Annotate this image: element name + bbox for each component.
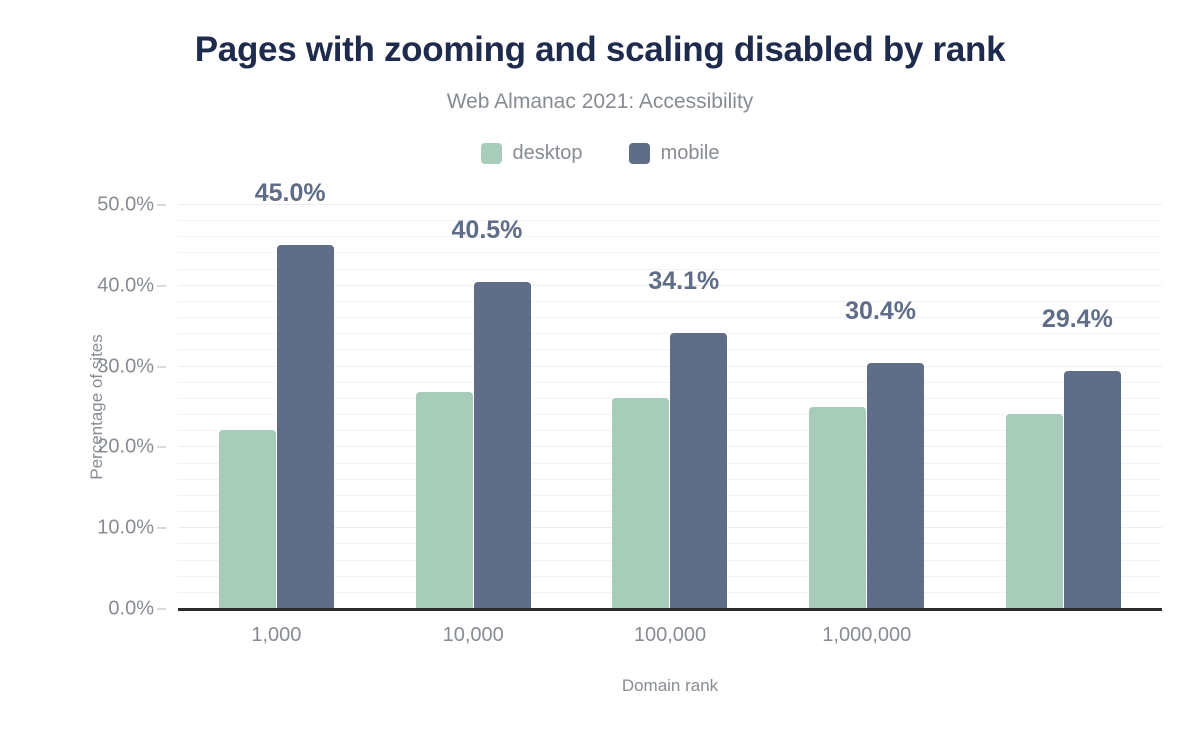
y-axis-ticks: 0.0%10.0%20.0%30.0%40.0%50.0% [0,205,166,609]
bar-desktop[interactable] [416,392,473,609]
bar-desktop[interactable] [809,407,866,609]
y-axis-tick-mark [157,285,166,287]
bar-mobile[interactable] [1064,371,1121,609]
bar-desktop[interactable] [612,398,669,609]
x-axis-title: Domain rank [178,676,1162,696]
x-axis-tick-label: 1,000,000 [768,616,965,647]
y-axis-tick-label: 40.0% [97,274,154,297]
bars [375,205,572,609]
x-axis-tick-label: 10,000 [375,616,572,647]
bar-desktop[interactable] [219,430,276,609]
bar-chart: Pages with zooming and scaling disabled … [0,0,1200,742]
bars [572,205,769,609]
y-axis-tick-label: 0.0% [108,598,154,621]
legend-label: desktop [513,142,583,165]
y-axis-tick-label: 50.0% [97,194,154,217]
bar-group: 34.1% [572,205,769,609]
plot-area: 45.0%40.5%34.1%30.4%29.4% [178,205,1162,609]
bar-group: 29.4% [965,205,1162,609]
y-axis-tick-label: 20.0% [97,436,154,459]
x-axis-tick-label: 1,000 [178,616,375,647]
bar-mobile[interactable] [277,245,334,609]
bar-mobile[interactable] [474,282,531,609]
bar-mobile[interactable] [867,363,924,609]
legend-swatch-desktop [481,143,502,164]
bars [178,205,375,609]
y-axis-tick-label: 30.0% [97,355,154,378]
chart-title: Pages with zooming and scaling disabled … [0,30,1200,70]
x-axis-ticks: 1,00010,000100,0001,000,000 [178,616,1162,647]
x-axis-tick-label [965,616,1162,647]
legend-item-mobile[interactable]: mobile [629,142,720,165]
bar-group: 30.4% [768,205,965,609]
y-axis-tick-mark [157,366,166,368]
bar-desktop[interactable] [1006,414,1063,609]
y-axis-tick-mark [157,608,166,610]
x-axis-baseline [178,608,1162,611]
bars [768,205,965,609]
x-axis-tick-label: 100,000 [572,616,769,647]
y-axis-tick-mark [157,527,166,529]
bar-groups: 45.0%40.5%34.1%30.4%29.4% [178,205,1162,609]
legend-swatch-mobile [629,143,650,164]
chart-legend: desktopmobile [0,142,1200,165]
bar-group: 40.5% [375,205,572,609]
bar-group: 45.0% [178,205,375,609]
y-axis-tick-mark [157,446,166,448]
bar-mobile[interactable] [670,333,727,609]
y-axis-tick-mark [157,204,166,206]
chart-subtitle: Web Almanac 2021: Accessibility [0,90,1200,114]
legend-item-desktop[interactable]: desktop [481,142,583,165]
bars [965,205,1162,609]
legend-label: mobile [661,142,720,165]
y-axis-tick-label: 10.0% [97,517,154,540]
